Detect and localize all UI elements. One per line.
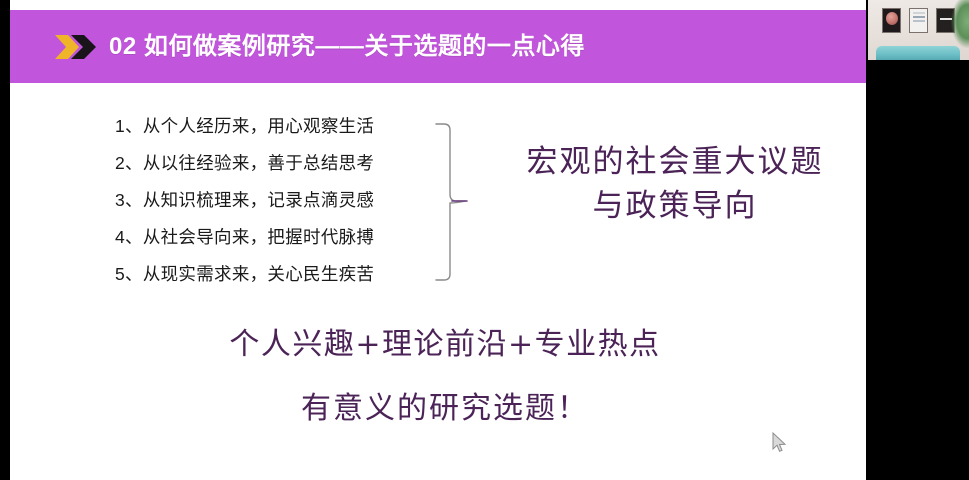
list-item: 4、从社会导向来，把握时代脉搏 — [115, 219, 425, 256]
mouse-pointer-icon — [772, 432, 788, 454]
numbered-list: 1、从个人经历来，用心观察生活 2、从以往经验来，善于总结思考 3、从知识梳理来… — [115, 108, 425, 293]
picture-frame-icon — [882, 8, 901, 33]
page-title: 02 如何做案例研究——关于选题的一点心得 — [109, 35, 585, 59]
double-chevron-icon — [55, 34, 97, 60]
list-item: 3、从知识梳理来，记录点滴灵感 — [115, 182, 425, 219]
picture-frame-icon — [909, 8, 928, 33]
list-item: 2、从以往经验来，善于总结思考 — [115, 145, 425, 182]
headline-line-2: 与政策导向 — [480, 184, 870, 228]
curly-brace-icon — [434, 122, 468, 282]
presentation-slide: 02 如何做案例研究——关于选题的一点心得 1、从个人经历来，用心观察生活 2、… — [10, 0, 866, 480]
slide-header-bar: 02 如何做案例研究——关于选题的一点心得 — [10, 10, 866, 83]
right-headline: 宏观的社会重大议题 与政策导向 — [480, 140, 870, 228]
conclusion-line-2: 有意义的研究选题！ — [50, 386, 840, 432]
webcam-thumbnail[interactable] — [868, 0, 969, 60]
headline-line-1: 宏观的社会重大议题 — [480, 140, 870, 184]
conclusion-line-1: 个人兴趣+理论前沿+专业热点 — [50, 322, 840, 368]
list-item: 5、从现实需求来，关心民生疾苦 — [115, 256, 425, 293]
list-item: 1、从个人经历来，用心观察生活 — [115, 108, 425, 145]
sofa-shape — [876, 46, 960, 60]
plant-icon — [951, 0, 969, 48]
screen-root: 02 如何做案例研究——关于选题的一点心得 1、从个人经历来，用心观察生活 2、… — [0, 0, 969, 480]
conclusion-block: 个人兴趣+理论前沿+专业热点 有意义的研究选题！ — [50, 322, 840, 432]
